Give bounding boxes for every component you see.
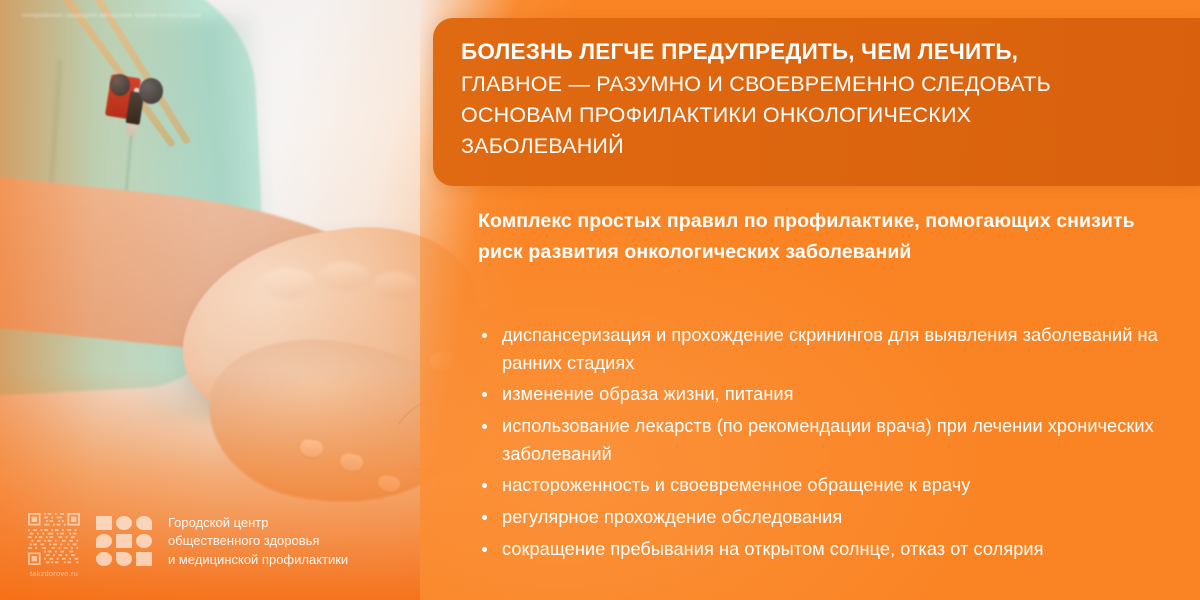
qr-code-wrap[interactable]: takzdorovo.ru <box>28 513 80 578</box>
list-item: диспансеризация и прохождение скринингов… <box>478 322 1184 377</box>
center-logo-mark-icon <box>96 516 152 566</box>
poster-subtitle-line-2: ОСНОВАМ ПРОФИЛАКТИКИ ОНКОЛОГИЧЕСКИХ <box>461 100 1184 131</box>
health-prevention-poster: изображение защищено авторским правом ил… <box>0 0 1200 600</box>
prevention-rules-list: диспансеризация и прохождение скринингов… <box>478 322 1184 567</box>
organization-logo-block: takzdorovo.ru Городской центр общественн… <box>28 513 348 578</box>
poster-subtitle-line-3: ЗАБОЛЕВАНИЙ <box>461 131 1184 162</box>
logo-shape-square <box>96 516 112 530</box>
rule-text: регулярное прохождение обследования <box>502 507 842 527</box>
list-item: настороженность и своевременное обращени… <box>478 472 1184 500</box>
rule-text: диспансеризация и прохождение скринингов… <box>502 325 1158 373</box>
bullet-dot-icon <box>482 547 487 552</box>
lead-paragraph: Комплекс простых правил по профилактике,… <box>478 206 1178 268</box>
rule-text: настороженность и своевременное обращени… <box>502 475 970 495</box>
poster-subtitle-line-1: ГЛАВНОЕ — РАЗУМНО И СВОЕВРЕМЕННО СЛЕДОВА… <box>461 69 1184 100</box>
bullet-dot-icon <box>482 483 487 488</box>
bullet-dot-icon <box>482 392 487 397</box>
list-item: изменение образа жизни, питания <box>478 381 1184 409</box>
rule-text: использование лекарств (по рекомендации … <box>502 416 1154 464</box>
organization-name-line-3: и медицинской профилактики <box>168 551 348 569</box>
logo-shape-circle <box>96 552 112 566</box>
logo-shape-square <box>116 534 132 548</box>
header-text-block: БОЛЕЗНЬ ЛЕГЧЕ ПРЕДУПРЕДИТЬ, ЧЕМ ЛЕЧИТЬ, … <box>461 36 1184 162</box>
list-item: регулярное прохождение обследования <box>478 504 1184 532</box>
header-banner-card: БОЛЕЗНЬ ЛЕГЧЕ ПРЕДУПРЕДИТЬ, ЧЕМ ЛЕЧИТЬ, … <box>433 18 1200 186</box>
qr-code-icon[interactable] <box>28 513 80 565</box>
logo-shape-circle <box>136 534 152 548</box>
poster-title: БОЛЕЗНЬ ЛЕГЧЕ ПРЕДУПРЕДИТЬ, ЧЕМ ЛЕЧИТЬ, <box>461 36 1184 68</box>
photo-watermark: изображение защищено авторским правом ил… <box>22 13 332 19</box>
logo-shape-circle <box>116 516 132 530</box>
rule-text: сокращение пребывания на открытом солнце… <box>502 539 1044 559</box>
list-item: использование лекарств (по рекомендации … <box>478 413 1184 468</box>
bullet-dot-icon <box>482 515 487 520</box>
rule-text: изменение образа жизни, питания <box>502 384 794 404</box>
organization-name: Городской центр общественного здоровья и… <box>168 514 348 569</box>
organization-name-line-2: общественного здоровья <box>168 532 348 550</box>
bullet-dot-icon <box>482 424 487 429</box>
list-item: сокращение пребывания на открытом солнце… <box>478 536 1184 564</box>
logo-shape-leaf <box>116 552 132 566</box>
qr-code-caption: takzdorovo.ru <box>30 569 78 578</box>
logo-shape-leaf <box>136 516 152 530</box>
organization-name-line-1: Городской центр <box>168 514 348 532</box>
logo-shape-square <box>136 552 152 566</box>
bullet-dot-icon <box>482 333 487 338</box>
logo-shape-leaf <box>96 534 112 548</box>
